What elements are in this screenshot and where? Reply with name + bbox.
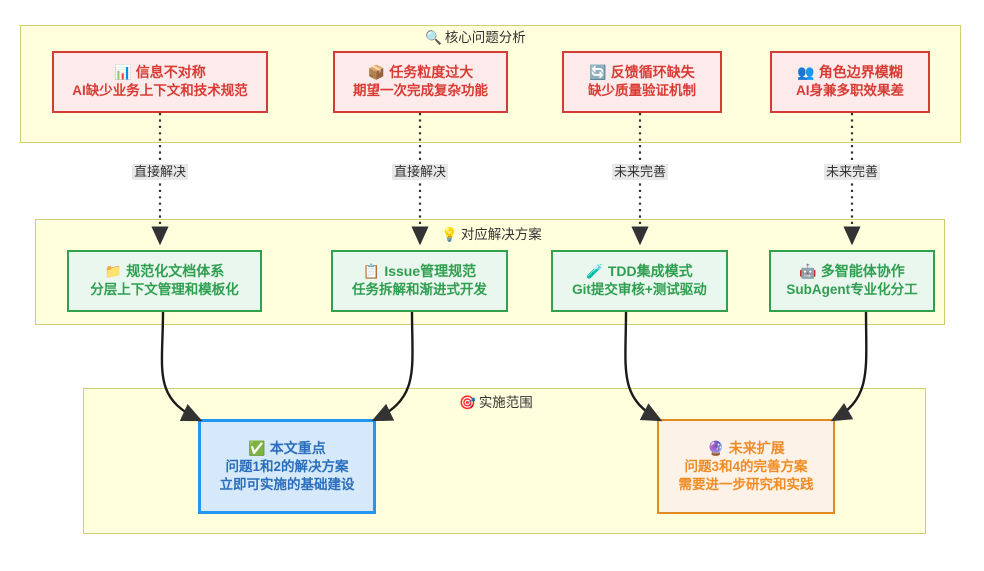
- node-focus-scope-title: ✅本文重点: [248, 439, 325, 458]
- group-label-corresponding-solutions: 💡对应解决方案: [441, 228, 542, 242]
- package-icon: 📦: [368, 64, 385, 80]
- robot-icon: 🤖: [799, 263, 816, 279]
- node-focus-scope[interactable]: ✅本文重点 问题1和2的解决方案 立即可实施的基础建设: [198, 419, 376, 514]
- node-focus-scope-line-2: 立即可实施的基础建设: [220, 476, 355, 494]
- light-bulb-icon: 💡: [441, 227, 458, 242]
- node-problem-2[interactable]: 📦任务粒度过大 期望一次完成复杂功能: [333, 51, 508, 113]
- node-problem-1-sub: AI缺少业务上下文和技术规范: [72, 82, 248, 100]
- node-solution-1-sub: 分层上下文管理和模板化: [90, 281, 239, 299]
- node-problem-4-sub: AI身兼多职效果差: [796, 82, 904, 100]
- group-label-core-problem-analysis: 🔍核心问题分析: [425, 31, 526, 45]
- direct-hit-icon: 🎯: [459, 395, 476, 410]
- node-solution-3-sub: Git提交审核+测试驱动: [572, 281, 707, 299]
- edge-label-direct-solve-1: 直接解决: [132, 164, 188, 180]
- check-mark-icon: ✅: [248, 440, 265, 456]
- node-future-scope-line-1: 问题3和4的完善方案: [684, 458, 807, 476]
- node-future-scope-title: 🔮未来扩展: [707, 439, 784, 458]
- test-tube-icon: 🧪: [586, 263, 603, 279]
- node-problem-3-sub: 缺少质量验证机制: [588, 82, 696, 100]
- edge-label-direct-solve-2: 直接解决: [392, 164, 448, 180]
- node-problem-2-sub: 期望一次完成复杂功能: [353, 82, 488, 100]
- node-problem-2-title: 📦任务粒度过大: [368, 63, 473, 82]
- node-solution-3-title: 🧪TDD集成模式: [586, 262, 692, 281]
- node-solution-2[interactable]: 📋Issue管理规范 任务拆解和渐进式开发: [331, 250, 508, 312]
- node-solution-1[interactable]: 📁规范化文档体系 分层上下文管理和模板化: [67, 250, 262, 312]
- node-solution-4[interactable]: 🤖多智能体协作 SubAgent专业化分工: [769, 250, 935, 312]
- node-solution-4-title: 🤖多智能体协作: [799, 262, 904, 281]
- node-problem-3-title: 🔄反馈循环缺失: [589, 63, 694, 82]
- bar-chart-icon: 📊: [114, 64, 131, 80]
- refresh-loop-icon: 🔄: [589, 64, 606, 80]
- node-solution-1-title: 📁规范化文档体系: [105, 262, 224, 281]
- node-problem-4-title: 👥角色边界模糊: [797, 63, 902, 82]
- node-solution-2-title: 📋Issue管理规范: [363, 262, 476, 281]
- node-problem-1[interactable]: 📊信息不对称 AI缺少业务上下文和技术规范: [52, 51, 268, 113]
- edge-label-future-improve-1: 未来完善: [612, 164, 668, 180]
- node-problem-3[interactable]: 🔄反馈循环缺失 缺少质量验证机制: [562, 51, 722, 113]
- node-solution-3[interactable]: 🧪TDD集成模式 Git提交审核+测试驱动: [551, 250, 728, 312]
- node-future-scope-line-2: 需要进一步研究和实践: [679, 476, 814, 494]
- node-solution-2-sub: 任务拆解和渐进式开发: [352, 281, 487, 299]
- edge-label-future-improve-2: 未来完善: [824, 164, 880, 180]
- clipboard-icon: 📋: [363, 263, 380, 279]
- node-problem-4[interactable]: 👥角色边界模糊 AI身兼多职效果差: [770, 51, 930, 113]
- node-focus-scope-line-1: 问题1和2的解决方案: [225, 458, 348, 476]
- crystal-ball-icon: 🔮: [707, 440, 724, 456]
- two-people-icon: 👥: [797, 64, 814, 80]
- magnifying-glass-icon: 🔍: [425, 30, 442, 45]
- diagram-canvas: 🔍核心问题分析 📊信息不对称 AI缺少业务上下文和技术规范 📦任务粒度过大 期望…: [0, 0, 984, 571]
- node-problem-1-title: 📊信息不对称: [114, 63, 205, 82]
- folder-icon: 📁: [105, 263, 122, 279]
- group-label-implementation-scope: 🎯实施范围: [459, 396, 533, 410]
- node-future-scope[interactable]: 🔮未来扩展 问题3和4的完善方案 需要进一步研究和实践: [657, 419, 835, 514]
- node-solution-4-sub: SubAgent专业化分工: [786, 281, 917, 299]
